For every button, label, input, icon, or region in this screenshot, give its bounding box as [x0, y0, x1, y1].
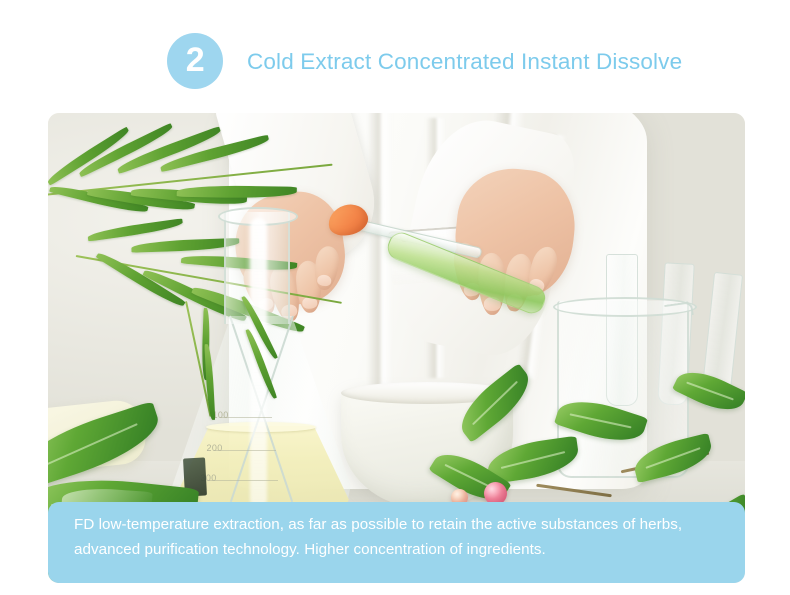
caption-box: FD low-temperature extraction, as far as…	[48, 502, 745, 583]
page-title: Cold Extract Concentrated Instant Dissol…	[247, 49, 682, 75]
step-number-badge: 2	[167, 33, 223, 89]
flask-graduation-200: 200	[206, 443, 222, 453]
step-number-label: 2	[186, 43, 204, 77]
flask-graduation-line	[214, 450, 276, 451]
frond-leaflet	[159, 135, 270, 173]
frond-leaflet	[177, 185, 297, 199]
flask-graduation-line	[208, 480, 278, 481]
frond-leaflet	[205, 344, 216, 420]
step-header: 2 Cold Extract Concentrated Instant Diss…	[167, 33, 682, 89]
caption-text: FD low-temperature extraction, as far as…	[74, 513, 719, 562]
